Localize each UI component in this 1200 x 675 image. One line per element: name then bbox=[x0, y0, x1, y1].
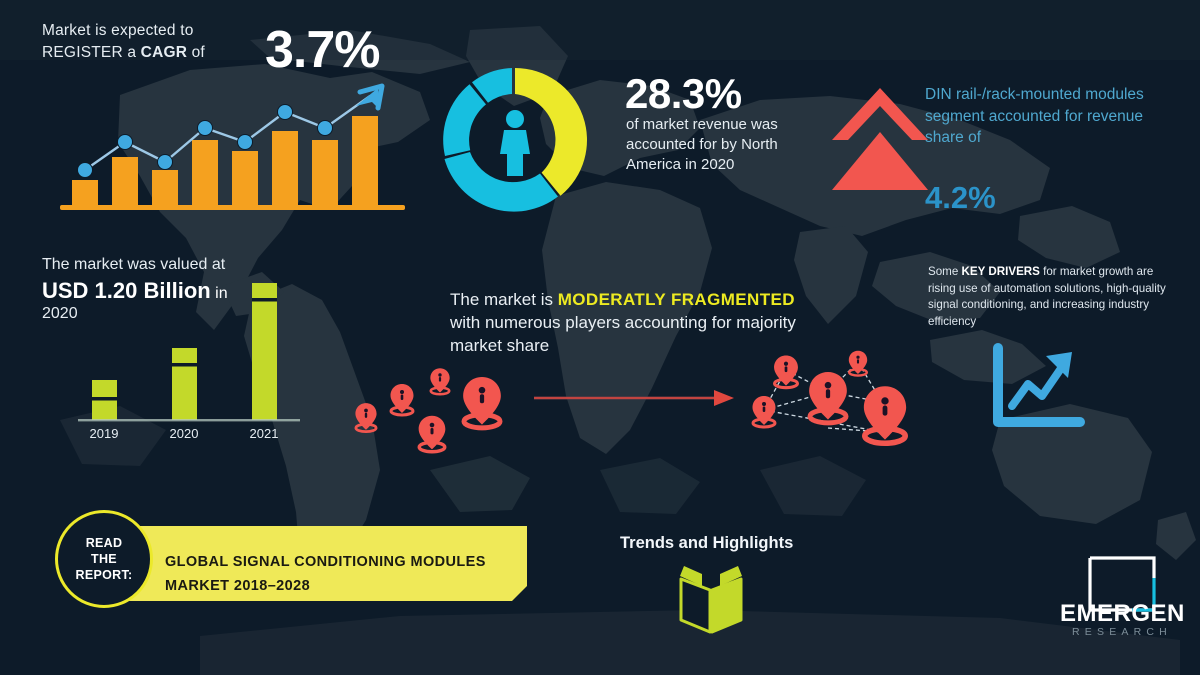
fragmentation-text: The market is MODERATLY FRAGMENTED with … bbox=[450, 288, 820, 357]
fragmentation-highlight: MODERATLY FRAGMENTED bbox=[558, 290, 795, 309]
green-chart-tick-labels: 2019 2020 2021 bbox=[90, 426, 279, 441]
north-america-value: 28.3% bbox=[625, 70, 742, 118]
cagr-label: Market is expected to REGISTER a CAGR of bbox=[42, 20, 205, 64]
key-drivers-prefix: Some bbox=[928, 265, 962, 278]
map-pin bbox=[809, 372, 847, 423]
map-pin bbox=[774, 355, 798, 387]
read-the-report-label: READ THE REPORT: bbox=[76, 535, 133, 583]
read-line1: READ bbox=[76, 535, 133, 551]
cagr-label-line1: Market is expected to bbox=[42, 20, 205, 42]
connected-map-pin-network-icon bbox=[730, 340, 935, 458]
logo-name: EMERGEN bbox=[1060, 600, 1184, 628]
report-title-line2: MARKET 2018–2028 bbox=[165, 574, 515, 598]
fragmentation-prefix: The market is bbox=[450, 290, 558, 309]
report-title-line1: GLOBAL SIGNAL CONDITIONING MODULES bbox=[165, 550, 515, 574]
cagr-label-line2-a: REGISTER a bbox=[42, 44, 141, 61]
growth-bar-line-chart bbox=[60, 80, 405, 215]
market-value-line2: USD 1.20 Billion in bbox=[42, 278, 228, 304]
map-pin bbox=[463, 377, 501, 428]
fragmentation-suffix: with numerous players accounting for maj… bbox=[450, 313, 796, 355]
cagr-value: 3.7% bbox=[265, 20, 380, 80]
market-value-year: 2020 bbox=[42, 305, 78, 323]
din-rail-description: DIN rail-/rack-mounted modules segment a… bbox=[925, 84, 1150, 149]
growth-chart-icon bbox=[988, 342, 1088, 437]
din-rail-value: 4.2% bbox=[925, 180, 996, 216]
map-pin-cluster-icon bbox=[340, 352, 530, 457]
map-pin bbox=[419, 416, 446, 452]
infographic-root: Market is expected to REGISTER a CAGR of… bbox=[0, 0, 1200, 675]
market-value-amount: USD 1.20 Billion bbox=[42, 278, 211, 303]
read-line2: THE bbox=[76, 551, 133, 567]
tick-2019: 2019 bbox=[90, 426, 119, 441]
map-pin bbox=[753, 396, 776, 427]
map-pin bbox=[430, 368, 449, 394]
north-america-donut bbox=[430, 55, 600, 225]
trends-title: Trends and Highlights bbox=[620, 534, 793, 553]
map-pin bbox=[849, 351, 867, 376]
north-america-description: of market revenue was accounted for by N… bbox=[626, 115, 801, 175]
open-book-icon bbox=[672, 562, 750, 634]
read-line3: REPORT: bbox=[76, 567, 133, 583]
cagr-label-line2: REGISTER a CAGR of bbox=[42, 42, 205, 64]
key-drivers-text: Some KEY DRIVERS for market growth are r… bbox=[928, 264, 1168, 330]
donut-slice-c bbox=[445, 152, 559, 212]
right-arrow-icon bbox=[532, 383, 737, 413]
green-chart-axis bbox=[78, 419, 300, 421]
cagr-keyword: CAGR bbox=[141, 44, 187, 61]
cagr-label-line2-c: of bbox=[187, 44, 205, 61]
read-the-report-button[interactable]: READ THE REPORT: bbox=[55, 510, 153, 608]
chart-baseline bbox=[60, 205, 405, 210]
person-icon bbox=[500, 110, 530, 176]
map-pin bbox=[391, 384, 414, 415]
map-pin bbox=[355, 403, 376, 432]
double-up-arrow-icon bbox=[828, 82, 933, 197]
report-title: GLOBAL SIGNAL CONDITIONING MODULES MARKE… bbox=[165, 550, 515, 598]
key-drivers-highlight: KEY DRIVERS bbox=[962, 265, 1040, 278]
market-value-in: in bbox=[211, 285, 228, 302]
tick-2020: 2020 bbox=[170, 426, 199, 441]
donut-slice-b bbox=[443, 84, 486, 156]
logo-subtitle: RESEARCH bbox=[1060, 626, 1184, 638]
tick-2021: 2021 bbox=[250, 426, 279, 441]
market-value-line1: The market was valued at bbox=[42, 256, 225, 274]
map-pin bbox=[864, 386, 906, 443]
